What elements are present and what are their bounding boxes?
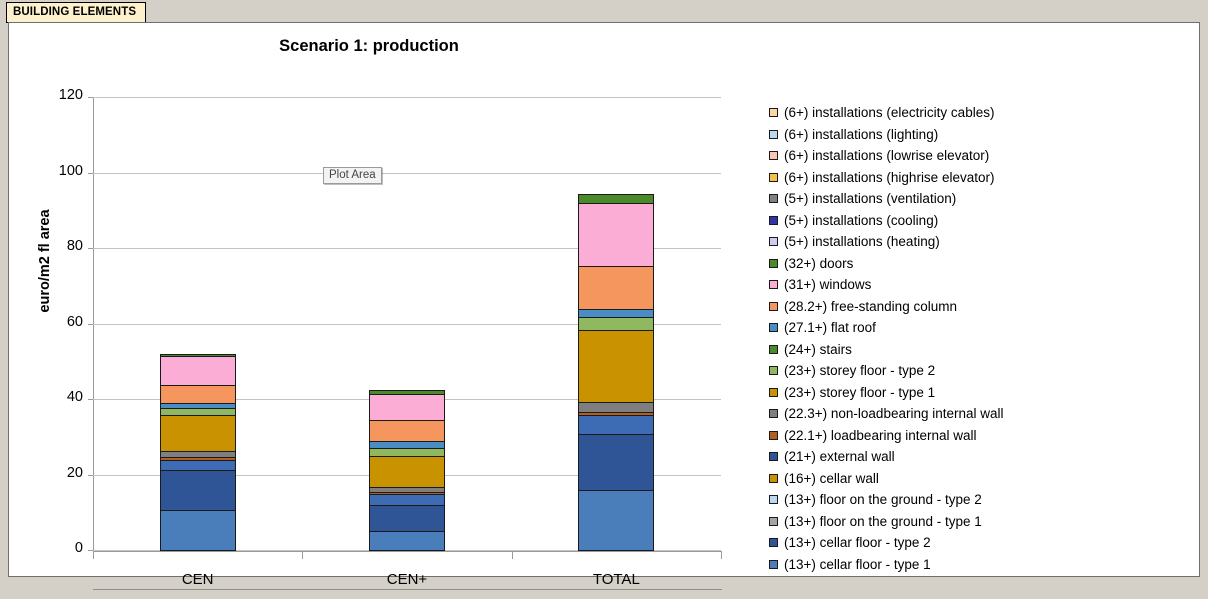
bar-segment[interactable] [578,203,654,267]
legend-swatch-icon [769,345,778,354]
legend-swatch-icon [769,517,778,526]
legend-item[interactable]: (22.3+) non-loadbearing internal wall [769,404,1189,426]
y-tick-label: 100 [33,163,83,179]
sheet-tab-strip: BUILDING ELEMENTS [0,0,1208,22]
legend-label: (16+) cellar wall [784,469,879,489]
x-axis-line [93,551,722,552]
bar-segment[interactable] [369,390,445,395]
bar-segment[interactable] [160,470,236,511]
legend-label: (6+) installations (lighting) [784,125,938,145]
plot-area[interactable] [93,97,721,550]
x-axis-label-cen: CEN [93,571,302,588]
bar-total[interactable] [578,97,654,550]
bar-segment[interactable] [160,460,236,472]
bar-cen-[interactable] [369,97,445,550]
legend-label: (22.3+) non-loadbearing internal wall [784,404,1004,424]
legend-swatch-icon [769,130,778,139]
legend-item[interactable]: (21+) external wall [769,447,1189,469]
bar-segment[interactable] [369,494,445,507]
legend-label: (21+) external wall [784,447,895,467]
legend-label: (5+) installations (ventilation) [784,189,956,209]
legend-item[interactable]: (13+) cellar floor - type 1 [769,555,1189,577]
legend-item[interactable]: (5+) installations (ventilation) [769,189,1189,211]
x-axis-baseline [93,589,722,590]
legend-item[interactable]: (5+) installations (cooling) [769,211,1189,233]
legend-label: (5+) installations (heating) [784,232,940,252]
legend-item[interactable]: (23+) storey floor - type 2 [769,361,1189,383]
legend-swatch-icon [769,259,778,268]
legend-swatch-icon [769,452,778,461]
legend-label: (13+) floor on the ground - type 2 [784,490,982,510]
bar-segment[interactable] [160,408,236,416]
bar-segment[interactable] [160,354,236,357]
legend-label: (24+) stairs [784,340,852,360]
legend-label: (13+) cellar floor - type 1 [784,555,931,575]
y-tick-label: 120 [33,87,83,103]
sheet-tab-building-elements[interactable]: BUILDING ELEMENTS [6,2,146,23]
legend-swatch-icon [769,194,778,203]
bar-segment[interactable] [369,448,445,456]
legend-swatch-icon [769,366,778,375]
legend-label: (22.1+) loadbearing internal wall [784,426,977,446]
legend-item[interactable]: (28.2+) free-standing column [769,297,1189,319]
x-axis-label-total: TOTAL [512,571,721,588]
bar-segment[interactable] [369,394,445,421]
legend-item[interactable]: (27.1+) flat roof [769,318,1189,340]
legend-swatch-icon [769,538,778,547]
legend-item[interactable]: (31+) windows [769,275,1189,297]
x-axis-label-cen-: CEN+ [302,571,511,588]
legend-swatch-icon [769,495,778,504]
legend-item[interactable]: (6+) installations (highrise elevator) [769,168,1189,190]
legend-swatch-icon [769,474,778,483]
legend-item[interactable]: (32+) doors [769,254,1189,276]
bar-segment[interactable] [369,420,445,442]
legend-item[interactable]: (6+) installations (lighting) [769,125,1189,147]
bar-segment[interactable] [578,194,654,204]
x-axis-separator [93,551,94,559]
legend-label: (32+) doors [784,254,853,274]
y-tick-label: 0 [33,540,83,556]
bar-segment[interactable] [160,510,236,551]
bar-segment[interactable] [369,441,445,450]
bar-segment[interactable] [578,402,654,413]
legend-swatch-icon [769,388,778,397]
legend-item[interactable]: (5+) installations (heating) [769,232,1189,254]
chart-title: Scenario 1: production [9,37,729,56]
bar-segment[interactable] [578,490,654,551]
legend-swatch-icon [769,151,778,160]
legend-item[interactable]: (22.1+) loadbearing internal wall [769,426,1189,448]
bar-cen[interactable] [160,97,236,550]
legend-swatch-icon [769,409,778,418]
legend-swatch-icon [769,431,778,440]
y-tick-label: 20 [33,465,83,481]
legend-swatch-icon [769,216,778,225]
y-tick-label: 60 [33,314,83,330]
legend-swatch-icon [769,108,778,117]
legend-label: (13+) cellar floor - type 2 [784,533,931,553]
legend-label: (23+) storey floor - type 1 [784,383,935,403]
legend-swatch-icon [769,280,778,289]
legend-item[interactable]: (13+) floor on the ground - type 2 [769,490,1189,512]
x-axis-separator [721,551,722,559]
legend-item[interactable]: (13+) floor on the ground - type 1 [769,512,1189,534]
x-axis-separator [512,551,513,559]
bar-segment[interactable] [578,434,654,491]
legend-swatch-icon [769,560,778,569]
bar-segment[interactable] [578,317,654,331]
legend-label: (6+) installations (lowrise elevator) [784,146,989,166]
bar-segment[interactable] [160,356,236,387]
bar-segment[interactable] [369,531,445,551]
y-tick-label: 40 [33,389,83,405]
chart-frame[interactable]: Scenario 1: production euro/m2 fl area 0… [8,22,1200,577]
chart-window: BUILDING ELEMENTS Scenario 1: production… [0,0,1208,599]
x-axis-separator [302,551,303,559]
bar-segment[interactable] [578,415,654,435]
legend-item[interactable]: (13+) cellar floor - type 2 [769,533,1189,555]
legend-swatch-icon [769,323,778,332]
legend-label: (27.1+) flat roof [784,318,876,338]
legend-item[interactable]: (16+) cellar wall [769,469,1189,491]
legend-label: (5+) installations (cooling) [784,211,938,231]
bar-segment[interactable] [578,330,654,403]
legend-swatch-icon [769,173,778,182]
legend-label: (23+) storey floor - type 2 [784,361,935,381]
legend-swatch-icon [769,302,778,311]
bar-segment[interactable] [578,309,654,318]
legend-label: (13+) floor on the ground - type 1 [784,512,982,532]
bar-segment[interactable] [160,415,236,452]
plot-area-tooltip: Plot Area [323,167,382,184]
bar-segment[interactable] [160,385,236,403]
legend-item[interactable]: (6+) installations (electricity cables) [769,103,1189,125]
y-tick-label: 80 [33,238,83,254]
bar-segment[interactable] [578,266,654,310]
bar-segment[interactable] [160,451,236,458]
legend-label: (6+) installations (electricity cables) [784,103,994,123]
legend-item[interactable]: (6+) installations (lowrise elevator) [769,146,1189,168]
legend-label: (31+) windows [784,275,871,295]
chart-legend: (6+) installations (electricity cables)(… [769,103,1189,576]
legend-item[interactable]: (23+) storey floor - type 1 [769,383,1189,405]
legend-label: (6+) installations (highrise elevator) [784,168,994,188]
bar-segment[interactable] [369,505,445,532]
legend-item[interactable]: (24+) stairs [769,340,1189,362]
bar-segment[interactable] [369,456,445,488]
legend-swatch-icon [769,237,778,246]
legend-label: (28.2+) free-standing column [784,297,957,317]
